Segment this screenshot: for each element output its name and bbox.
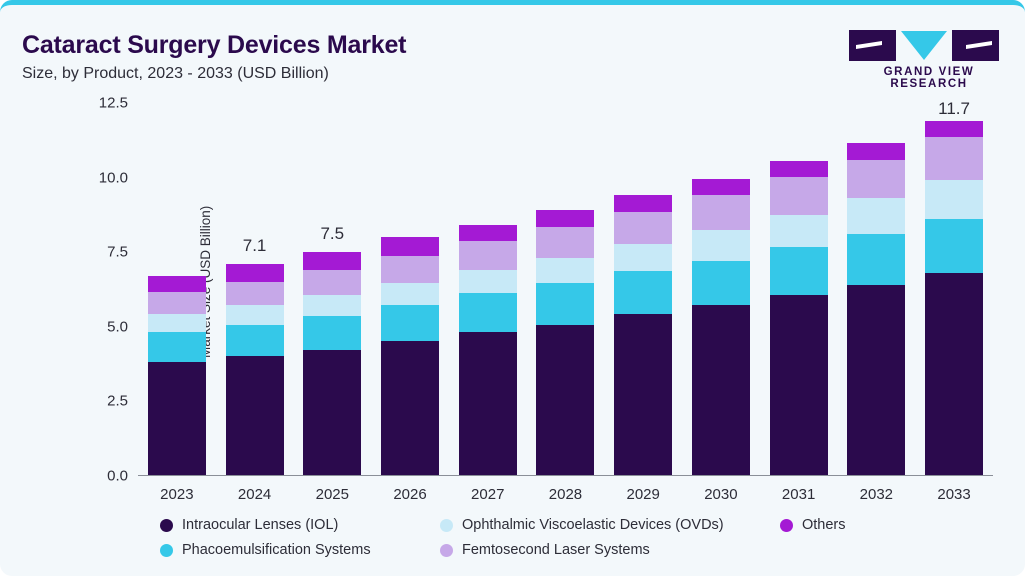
bar-segment[interactable] (614, 212, 672, 245)
bar-segment[interactable] (770, 247, 828, 295)
bar-segment[interactable] (459, 225, 517, 241)
logo-block-right-icon (952, 30, 999, 61)
x-axis-tick-label: 2027 (459, 486, 517, 503)
bar-segment[interactable] (536, 258, 594, 283)
bar-segment[interactable] (692, 195, 750, 229)
bar-segment[interactable] (536, 325, 594, 475)
bar-segment[interactable] (226, 282, 284, 306)
bar-segment[interactable] (459, 293, 517, 332)
legend-row-1: Intraocular Lenses (IOL) Ophthalmic Visc… (160, 517, 1000, 533)
bar-segment[interactable] (303, 350, 361, 475)
bar-segment[interactable] (148, 362, 206, 475)
bar-stack[interactable]: 2029 (614, 103, 672, 475)
bar-segment[interactable] (847, 160, 905, 199)
bar-segment[interactable] (925, 137, 983, 180)
legend-item-iol[interactable]: Intraocular Lenses (IOL) (160, 517, 440, 533)
legend-swatch-icon (440, 544, 453, 557)
bar-segment[interactable] (770, 295, 828, 475)
bar-segment[interactable] (381, 256, 439, 283)
bar-stack[interactable]: 11.72033 (925, 103, 983, 475)
bar-segment[interactable] (692, 261, 750, 306)
x-axis-tick-label: 2024 (226, 486, 284, 503)
bar-segment[interactable] (148, 276, 206, 292)
bar-total-label: 11.7 (925, 99, 983, 119)
bar-segment[interactable] (226, 356, 284, 475)
bar-segment[interactable] (847, 234, 905, 285)
legend-label: Others (802, 517, 846, 533)
x-axis-tick-label: 2025 (303, 486, 361, 503)
y-axis-tick-label: 5.0 (107, 318, 128, 335)
legend-label: Femtosecond Laser Systems (462, 542, 650, 558)
legend-item-phaco[interactable]: Phacoemulsification Systems (160, 542, 440, 558)
legend-item-others[interactable]: Others (780, 517, 846, 533)
x-axis-tick-label: 2029 (614, 486, 672, 503)
bar-segment[interactable] (692, 230, 750, 261)
bar-segment[interactable] (381, 305, 439, 341)
bar-segment[interactable] (303, 252, 361, 270)
bar-segment[interactable] (536, 227, 594, 258)
bar-segment[interactable] (770, 215, 828, 248)
bar-segment[interactable] (148, 314, 206, 332)
bar-segment[interactable] (925, 121, 983, 137)
bar-segment[interactable] (459, 241, 517, 269)
legend-swatch-icon (160, 544, 173, 557)
x-axis-tick-label: 2032 (847, 486, 905, 503)
bar-stack[interactable]: 2031 (770, 103, 828, 475)
bar-segment[interactable] (925, 273, 983, 475)
y-axis-tick-label: 0.0 (107, 468, 128, 485)
bar-stack[interactable]: 2027 (459, 103, 517, 475)
bar-segment[interactable] (303, 270, 361, 295)
x-axis-tick-label: 2023 (148, 486, 206, 503)
x-axis-tick-label: 2033 (925, 486, 983, 503)
bar-segment[interactable] (381, 341, 439, 475)
y-axis-tick-label: 7.5 (107, 244, 128, 261)
bar-stack[interactable]: 2026 (381, 103, 439, 475)
y-axis-tick-label: 10.0 (99, 169, 128, 186)
bar-segment[interactable] (614, 271, 672, 314)
page-title: Cataract Surgery Devices Market (22, 31, 406, 60)
grand-view-research-logo: GRAND VIEW RESEARCH (849, 30, 1009, 80)
bar-stack[interactable]: 7.12024 (226, 103, 284, 475)
x-axis-tick-label: 2031 (770, 486, 828, 503)
bar-segment[interactable] (925, 219, 983, 273)
chart-subtitle: Size, by Product, 2023 - 2033 (USD Billi… (22, 65, 329, 83)
bar-segment[interactable] (148, 292, 206, 314)
bar-segment[interactable] (226, 264, 284, 282)
bar-segment[interactable] (692, 179, 750, 195)
bar-segment[interactable] (226, 305, 284, 324)
bar-segment[interactable] (925, 180, 983, 219)
bar-segment[interactable] (459, 332, 517, 475)
logo-block-left-icon (849, 30, 896, 61)
legend-label: Phacoemulsification Systems (182, 542, 371, 558)
bar-segment[interactable] (847, 143, 905, 159)
bar-segment[interactable] (381, 283, 439, 305)
bar-segment[interactable] (226, 325, 284, 356)
chart-card: Cataract Surgery Devices Market Size, by… (0, 0, 1025, 576)
legend-label: Intraocular Lenses (IOL) (182, 517, 338, 533)
bar-stack[interactable]: 7.52025 (303, 103, 361, 475)
legend-swatch-icon (780, 519, 793, 532)
bar-segment[interactable] (148, 332, 206, 362)
logo-wordmark: GRAND VIEW RESEARCH (849, 66, 1009, 90)
bar-segment[interactable] (536, 283, 594, 325)
legend-row-2: Phacoemulsification Systems Femtosecond … (160, 542, 1000, 558)
bar-segment[interactable] (459, 270, 517, 294)
bar-total-label: 7.5 (303, 224, 361, 244)
plot-area: Market Size (USD Billion) 0.02.55.07.510… (138, 103, 993, 476)
bar-segment[interactable] (614, 244, 672, 271)
bar-segment[interactable] (614, 314, 672, 475)
legend-item-femto[interactable]: Femtosecond Laser Systems (440, 542, 780, 558)
bar-segment[interactable] (303, 295, 361, 316)
x-axis-line (138, 475, 993, 476)
bar-segment[interactable] (847, 285, 905, 475)
logo-triangle-icon (901, 31, 947, 60)
bar-segment[interactable] (692, 305, 750, 475)
x-axis-tick-label: 2030 (692, 486, 750, 503)
bar-stack[interactable]: 2032 (847, 103, 905, 475)
bar-segment[interactable] (381, 237, 439, 256)
bar-segment[interactable] (770, 161, 828, 177)
bar-segment[interactable] (303, 316, 361, 350)
bar-stack[interactable]: 2023 (148, 103, 206, 475)
bar-segment[interactable] (770, 177, 828, 214)
bar-group-container: 20237.120247.520252026202720282029203020… (138, 103, 993, 475)
bar-stack[interactable]: 2028 (536, 103, 594, 475)
bar-stack[interactable]: 2030 (692, 103, 750, 475)
legend: Intraocular Lenses (IOL) Ophthalmic Visc… (160, 517, 1000, 567)
x-axis-tick-label: 2026 (381, 486, 439, 503)
legend-item-ovd[interactable]: Ophthalmic Viscoelastic Devices (OVDs) (440, 517, 780, 533)
legend-swatch-icon (440, 519, 453, 532)
logo-mark (849, 30, 1009, 61)
bar-segment[interactable] (847, 198, 905, 234)
bar-total-label: 7.1 (226, 236, 284, 256)
y-axis-tick-label: 2.5 (107, 393, 128, 410)
legend-label: Ophthalmic Viscoelastic Devices (OVDs) (462, 517, 724, 533)
x-axis-tick-label: 2028 (536, 486, 594, 503)
y-axis-tick-label: 12.5 (99, 95, 128, 112)
legend-swatch-icon (160, 519, 173, 532)
bar-segment[interactable] (536, 210, 594, 226)
bar-segment[interactable] (614, 195, 672, 211)
